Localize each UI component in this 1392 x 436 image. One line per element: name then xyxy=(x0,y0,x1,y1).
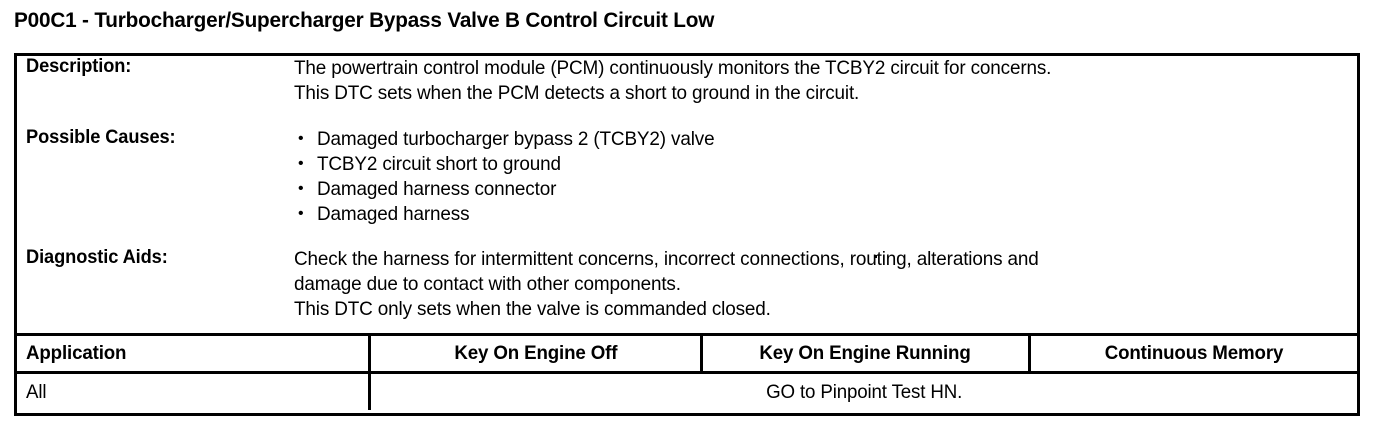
table-cell-result-merged: GO to Pinpoint Test HN. xyxy=(371,374,1357,410)
results-table: Application Key On Engine Off Key On Eng… xyxy=(17,333,1357,413)
list-item: • Damaged harness xyxy=(296,202,1345,227)
possible-causes-label: Possible Causes: xyxy=(26,127,176,149)
dtc-info-table: Description: The powertrain control modu… xyxy=(14,53,1360,416)
scan-artifact xyxy=(874,255,877,258)
table-header-continuous-memory: Continuous Memory xyxy=(1031,336,1357,371)
possible-causes-list: • Damaged turbocharger bypass 2 (TCBY2) … xyxy=(296,127,1345,227)
diagnostic-aids-line: damage due to contact with other compone… xyxy=(294,272,1313,297)
page-title: P00C1 - Turbocharger/Supercharger Bypass… xyxy=(14,8,714,33)
table-header-application: Application xyxy=(17,336,368,371)
table-row: All GO to Pinpoint Test HN. xyxy=(17,374,1357,410)
bullet-icon: • xyxy=(298,151,303,176)
diagnostic-aids-content: Check the harness for intermittent conce… xyxy=(294,247,1345,322)
description-label: Description: xyxy=(26,56,131,78)
bullet-icon: • xyxy=(298,176,303,201)
document-page: P00C1 - Turbocharger/Supercharger Bypass… xyxy=(0,0,1392,436)
bullet-icon: • xyxy=(298,201,303,226)
description-line: The powertrain control module (PCM) cont… xyxy=(294,56,1313,81)
list-item-label: Damaged turbocharger bypass 2 (TCBY2) va… xyxy=(317,127,714,152)
table-header-row: Application Key On Engine Off Key On Eng… xyxy=(17,336,1357,371)
bullet-icon: • xyxy=(298,126,303,151)
table-cell-application: All xyxy=(17,374,368,410)
description-content: The powertrain control module (PCM) cont… xyxy=(294,56,1345,106)
table-header-key-on-engine-running: Key On Engine Running xyxy=(703,336,1028,371)
list-item: • TCBY2 circuit short to ground xyxy=(296,152,1345,177)
list-item-label: TCBY2 circuit short to ground xyxy=(317,152,561,177)
list-item-label: Damaged harness xyxy=(317,202,469,227)
list-item-label: Damaged harness connector xyxy=(317,177,556,202)
diagnostic-aids-line: This DTC only sets when the valve is com… xyxy=(294,297,1313,322)
diagnostic-aids-label: Diagnostic Aids: xyxy=(26,247,168,269)
list-item: • Damaged harness connector xyxy=(296,177,1345,202)
diagnostic-aids-line: Check the harness for intermittent conce… xyxy=(294,247,1313,272)
description-line: This DTC sets when the PCM detects a sho… xyxy=(294,81,1313,106)
info-section: Description: The powertrain control modu… xyxy=(17,56,1357,336)
table-header-key-on-engine-off: Key On Engine Off xyxy=(371,336,700,371)
list-item: • Damaged turbocharger bypass 2 (TCBY2) … xyxy=(296,127,1345,152)
